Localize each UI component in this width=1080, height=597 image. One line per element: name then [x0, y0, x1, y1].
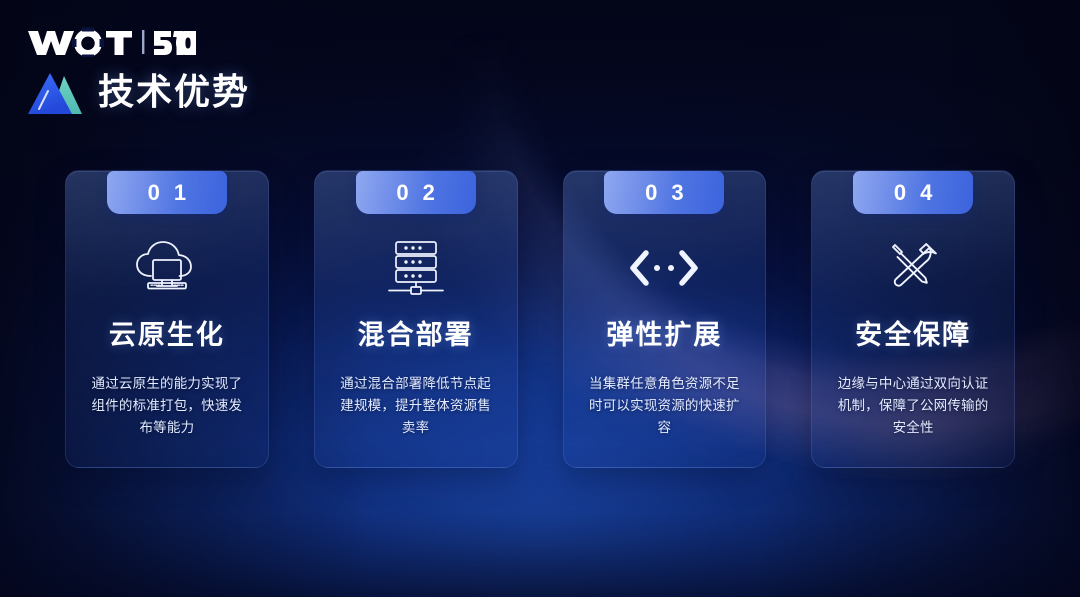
feature-card-3[interactable]: 0 3 弹性扩展 当集群任意角色资源不足时可以实现资源的快速扩容 — [563, 170, 767, 468]
code-brackets-icon — [627, 237, 701, 299]
feature-card-4[interactable]: 0 4 安全保障 边缘与中心通过双向认证机制，保障了公网传输的安全性 — [811, 170, 1015, 468]
mountain-triangle-logo-icon — [26, 66, 84, 118]
page-title: 技术优势 — [98, 74, 250, 110]
card-number-label: 0 3 — [641, 182, 688, 204]
card-number-label: 0 4 — [890, 182, 937, 204]
card-title: 混合部署 — [358, 321, 474, 351]
wrench-screwdriver-icon — [883, 237, 943, 299]
card-title: 云原生化 — [109, 321, 225, 351]
feature-card-2[interactable]: 0 2 混合部署 通过混合部署降低节点起建规模，提升整体资源售卖率 — [314, 170, 518, 468]
card-description: 通过云原生的能力实现了组件的标准打包，快速发布等能力 — [66, 373, 268, 439]
card-number-badge: 0 3 — [604, 171, 724, 214]
card-title: 安全保障 — [855, 321, 971, 351]
feature-card-row: 0 1 云原生化 通过云原生的能力实现了组件的标准打包，快速发布等能力 0 2 — [65, 170, 1015, 470]
feature-card-1[interactable]: 0 1 云原生化 通过云原生的能力实现了组件的标准打包，快速发布等能力 — [65, 170, 269, 468]
card-description: 当集群任意角色资源不足时可以实现资源的快速扩容 — [564, 373, 766, 439]
card-number-badge: 0 4 — [853, 171, 973, 214]
brand-logo — [26, 27, 196, 57]
card-number-badge: 0 1 — [107, 171, 227, 214]
wot-51cto-logo-icon — [26, 27, 196, 57]
server-rack-network-icon — [386, 237, 446, 299]
cloud-computer-icon — [131, 237, 203, 299]
card-title: 弹性扩展 — [606, 321, 722, 351]
card-description: 通过混合部署降低节点起建规模，提升整体资源售卖率 — [315, 373, 517, 439]
card-description: 边缘与中心通过双向认证机制，保障了公网传输的安全性 — [812, 373, 1014, 439]
card-number-label: 0 2 — [392, 182, 439, 204]
section-heading: 技术优势 — [26, 66, 250, 118]
card-number-badge: 0 2 — [356, 171, 476, 214]
card-number-label: 0 1 — [144, 182, 191, 204]
